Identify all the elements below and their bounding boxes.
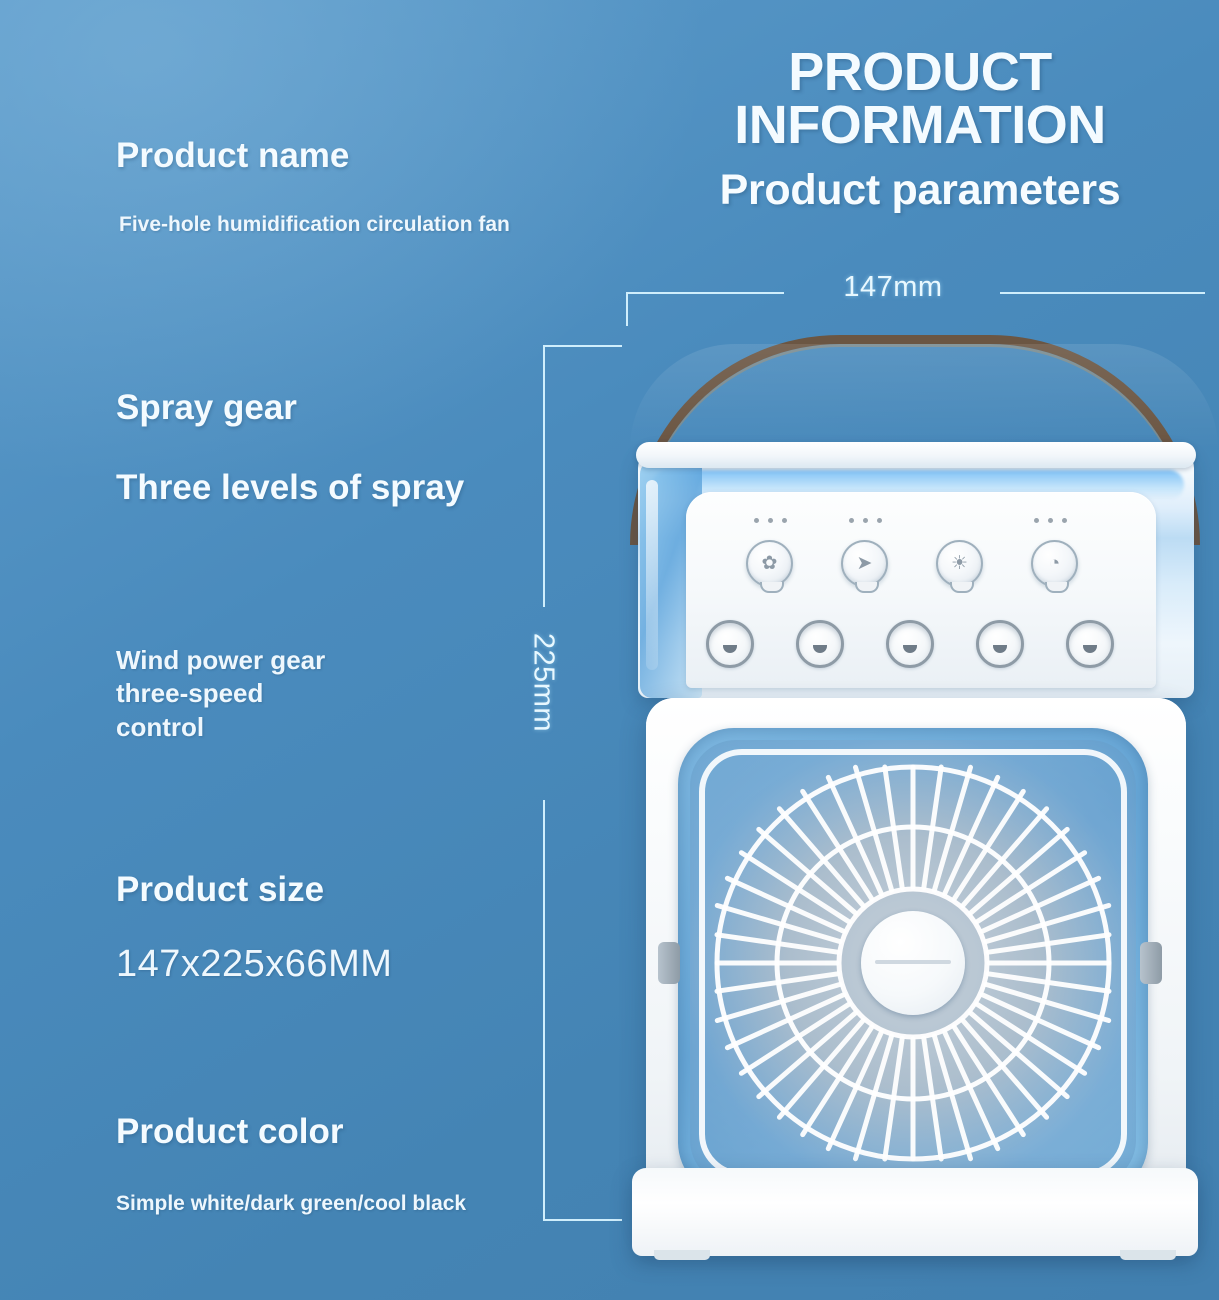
spec-product-size: Product size 147x225x66MM: [116, 870, 392, 988]
width-measure-line-right: [1000, 292, 1205, 294]
fan-speed-knob[interactable]: ✿: [746, 540, 793, 587]
spec-product-color-label: Product color: [116, 1112, 466, 1151]
spray-hole-4: [976, 620, 1024, 668]
height-measure-line-top: [543, 345, 545, 607]
height-measure-label: 225mm: [527, 603, 560, 763]
spec-wind-power-gear: Wind power gear three-speed control: [116, 644, 325, 744]
page-title-line1: PRODUCT: [640, 46, 1200, 99]
spec-spray-gear: Spray gear Three levels of spray: [116, 388, 464, 507]
spray-hole-3: [886, 620, 934, 668]
spec-product-name-value: Five-hole humidification circulation fan: [119, 212, 510, 237]
spec-product-size-value: 147x225x66MM: [116, 942, 392, 988]
timer-knob[interactable]: ◔: [1031, 540, 1078, 587]
page-title: PRODUCT INFORMATION: [640, 46, 1200, 153]
control-panel: ✿ ➤ ☀ ◔: [686, 492, 1156, 688]
spec-spray-gear-label: Spray gear: [116, 388, 464, 427]
page-subtitle: Product parameters: [630, 166, 1210, 215]
product-base: [632, 1168, 1198, 1256]
indicator-dots-spray: [849, 518, 882, 523]
spray-hole-2: [796, 620, 844, 668]
grille-tab-right: [1140, 942, 1162, 984]
base-foot-right: [1120, 1250, 1176, 1260]
spec-wind-power-gear-label: Wind power gear: [116, 644, 325, 677]
spec-product-name: Product name Five-hole humidification ci…: [116, 136, 510, 237]
spray-hole-5: [1066, 620, 1114, 668]
spec-spray-gear-value: Three levels of spray: [116, 468, 464, 507]
grille-tab-left: [658, 942, 680, 984]
indicator-dots-fan: [754, 518, 787, 523]
spray-hole-1: [706, 620, 754, 668]
spec-wind-power-gear-value: three-speed control: [116, 677, 325, 744]
spec-product-color: Product color Simple white/dark green/co…: [116, 1112, 466, 1216]
spec-product-color-value: Simple white/dark green/cool black: [116, 1191, 466, 1216]
product-image: ✿ ➤ ☀ ◔: [600, 330, 1219, 1270]
width-measure-line-left: [626, 292, 784, 294]
product-information-page: PRODUCT INFORMATION Product parameters P…: [0, 0, 1219, 1300]
light-knob[interactable]: ☀: [936, 540, 983, 587]
height-measure-line-bottom: [543, 800, 545, 1221]
page-title-line2: INFORMATION: [640, 99, 1200, 152]
tank-rim: [636, 442, 1196, 468]
spec-product-size-label: Product size: [116, 870, 392, 909]
width-measure-label: 147mm: [788, 271, 998, 304]
indicator-dots-timer: [1034, 518, 1067, 523]
fan-hub: [861, 911, 965, 1015]
width-measure-tick-left: [626, 292, 628, 326]
spec-product-name-label: Product name: [116, 136, 510, 175]
spray-mode-knob[interactable]: ➤: [841, 540, 888, 587]
fan-grille-frame: [678, 728, 1148, 1198]
base-foot-left: [654, 1250, 710, 1260]
